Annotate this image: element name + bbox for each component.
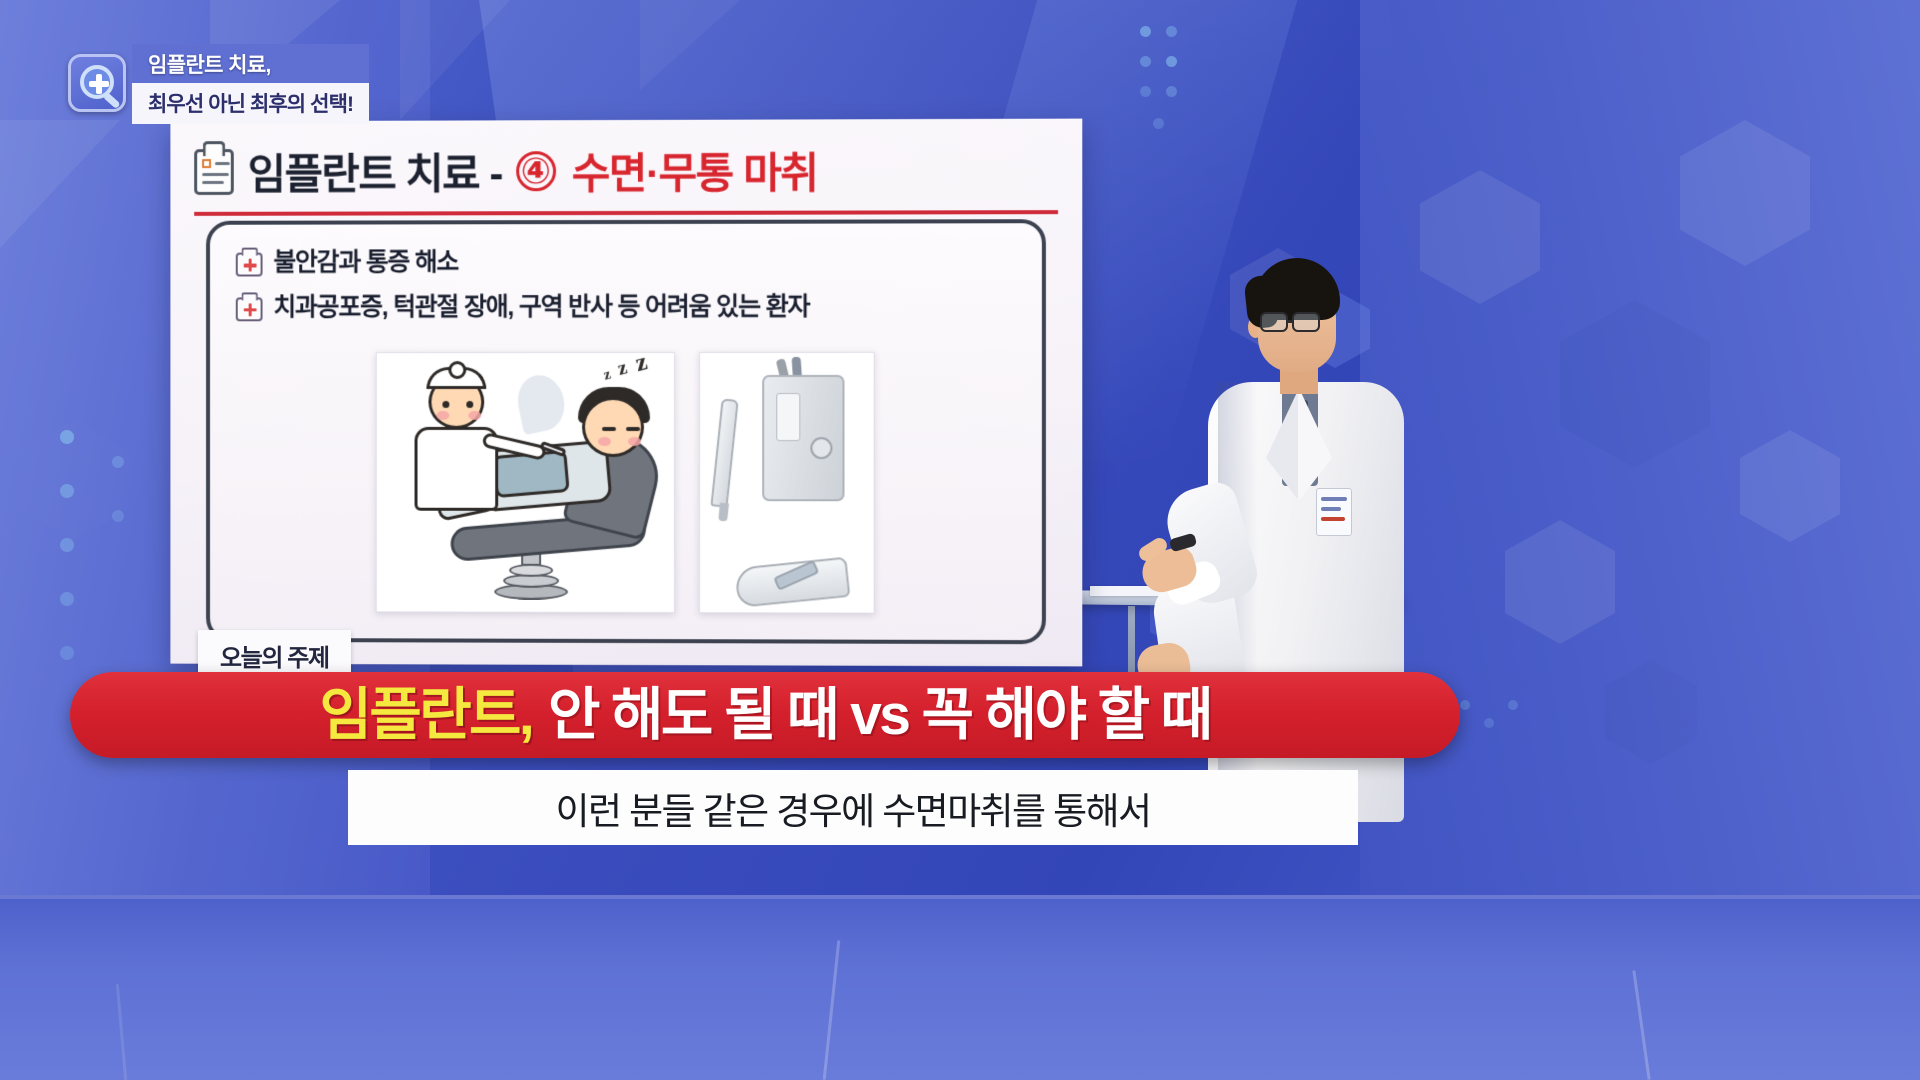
corner-badge-line2: 최우선 아닌 최후의 선택! xyxy=(132,83,369,124)
program-corner-badge: 임플란트 치료, 최우선 아닌 최후의 선택! xyxy=(68,44,369,124)
magnifier-plus-icon xyxy=(68,54,126,112)
todays-topic-label: 오늘의 주제 xyxy=(220,645,329,672)
slide-title-main: 임플란트 치료 - xyxy=(248,140,502,201)
medical-kit-icon xyxy=(236,253,263,277)
banner-highlight-text: 임플란트, xyxy=(320,683,533,747)
thought-bubble xyxy=(512,371,569,435)
slide-title-accent: 수면·무통 마취 xyxy=(572,139,818,201)
eyeglasses xyxy=(1260,312,1288,332)
subtitle-text: 이런 분들 같은 경우에 수면마취를 통해서 xyxy=(556,781,1151,835)
slide-content-panel: 불안감과 통증 해소 치과공포증, 턱관절 장애, 구역 반사 등 어려움 있는… xyxy=(206,219,1046,644)
presentation-board: 임플란트 치료 - ④ 수면·무통 마취 불안감과 통증 해소 치과공포증, 턱… xyxy=(170,119,1082,667)
medical-kit-icon xyxy=(236,297,263,321)
corner-badge-line1: 임플란트 치료, xyxy=(132,44,369,83)
slide-title-bar: 임플란트 치료 - ④ 수면·무통 마취 xyxy=(194,135,1058,216)
triangle-decoration xyxy=(0,120,120,280)
corner-badge-text: 임플란트 치료, 최우선 아닌 최후의 선택! xyxy=(132,44,369,124)
studio-floor xyxy=(0,895,1920,1080)
slide-title-number: ④ xyxy=(516,151,556,191)
clipboard-icon xyxy=(194,149,234,195)
bullet-text: 불안감과 통증 해소 xyxy=(273,246,458,280)
slide-figures: z z z xyxy=(236,352,1016,614)
dentist-patient-illustration: z z z xyxy=(375,352,674,613)
presenter-figure xyxy=(1130,250,1450,970)
bullet-text: 치과공포증, 턱관절 장애, 구역 반사 등 어려움 있는 환자 xyxy=(273,290,809,324)
anesthesia-device-photo xyxy=(699,352,875,614)
id-badge xyxy=(1316,488,1352,536)
triangle-decoration xyxy=(640,0,740,90)
banner-rest-text: 안 해도 될 때 vs 꼭 해야 할 때 xyxy=(548,683,1211,747)
list-item: 치과공포증, 턱관절 장애, 구역 반사 등 어려움 있는 환자 xyxy=(236,290,1016,324)
list-item: 불안감과 통증 해소 xyxy=(236,245,1016,280)
triangle-decoration xyxy=(400,0,510,120)
topic-banner: 임플란트, 안 해도 될 때 vs 꼭 해야 할 때 xyxy=(70,672,1460,758)
subtitle-caption: 이런 분들 같은 경우에 수면마취를 통해서 xyxy=(348,770,1358,845)
